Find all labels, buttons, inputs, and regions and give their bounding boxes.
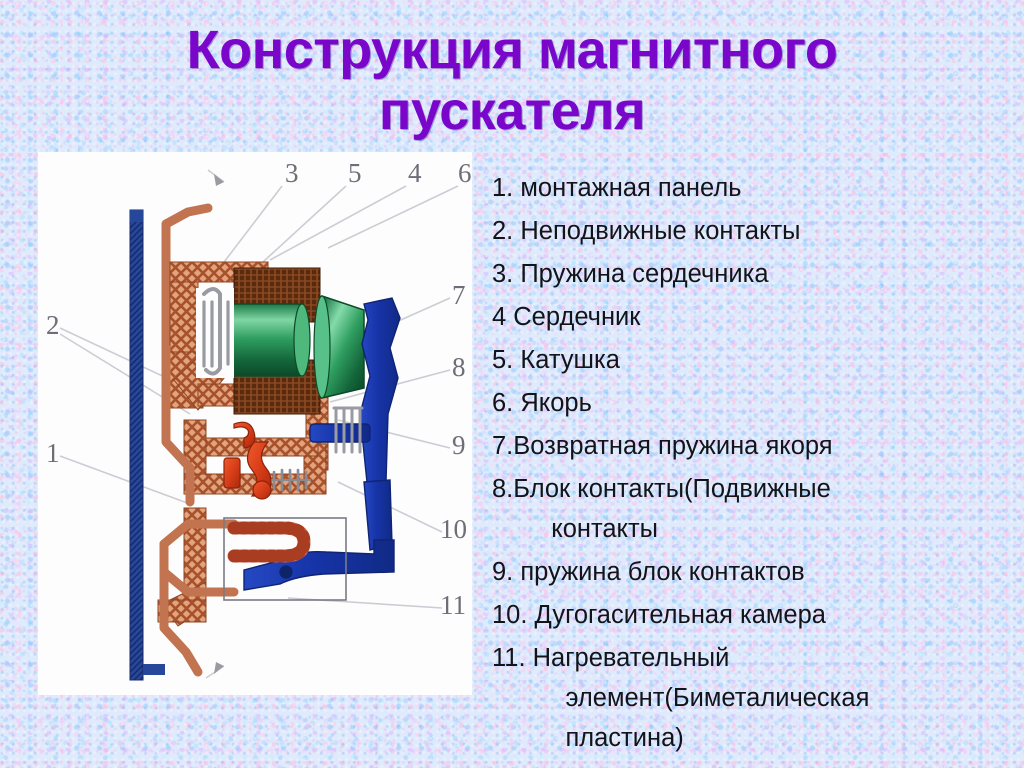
list-item: 4 Сердечник xyxy=(492,297,1012,337)
callout-number-7: 7 xyxy=(452,280,466,310)
callout-number-9: 9 xyxy=(452,430,466,460)
callout-number-8: 8 xyxy=(452,352,466,382)
list-item: 9. пружина блок контактов xyxy=(492,552,1012,592)
callout-number-11: 11 xyxy=(440,590,466,620)
callout-number-6: 6 xyxy=(458,158,472,188)
list-item: 11. Нагревательный элемент(Биметалическа… xyxy=(492,638,1012,758)
list-item: 3. Пружина сердечника xyxy=(492,254,1012,294)
list-item: 1. монтажная панель xyxy=(492,168,1012,208)
part-armature-core-face xyxy=(314,296,364,398)
diagram-svg: 3 5 4 6 2 1 7 8 9 10 11 xyxy=(38,152,472,695)
list-item: 2. Неподвижные контакты xyxy=(492,211,1012,251)
callout-number-5: 5 xyxy=(348,158,362,188)
parts-legend-list: 1. монтажная панель 2. Неподвижные конта… xyxy=(492,168,1012,761)
callout-number-3: 3 xyxy=(285,158,299,188)
list-item: 6. Якорь xyxy=(492,383,1012,423)
magnetic-starter-diagram: 3 5 4 6 2 1 7 8 9 10 11 xyxy=(38,152,472,695)
part-core-spring xyxy=(196,288,234,378)
callout-number-10: 10 xyxy=(440,514,467,544)
callout-number-4: 4 xyxy=(408,158,422,188)
list-item: 5. Катушка xyxy=(492,340,1012,380)
list-item: 7.Возвратная пружина якоря xyxy=(492,426,1012,466)
list-item: 8.Блок контакты(Подвижные контакты xyxy=(492,469,1012,549)
callout-number-2: 2 xyxy=(46,310,60,340)
list-item: 10. Дугогасительная камера xyxy=(492,595,1012,635)
callout-number-1: 1 xyxy=(46,438,60,468)
